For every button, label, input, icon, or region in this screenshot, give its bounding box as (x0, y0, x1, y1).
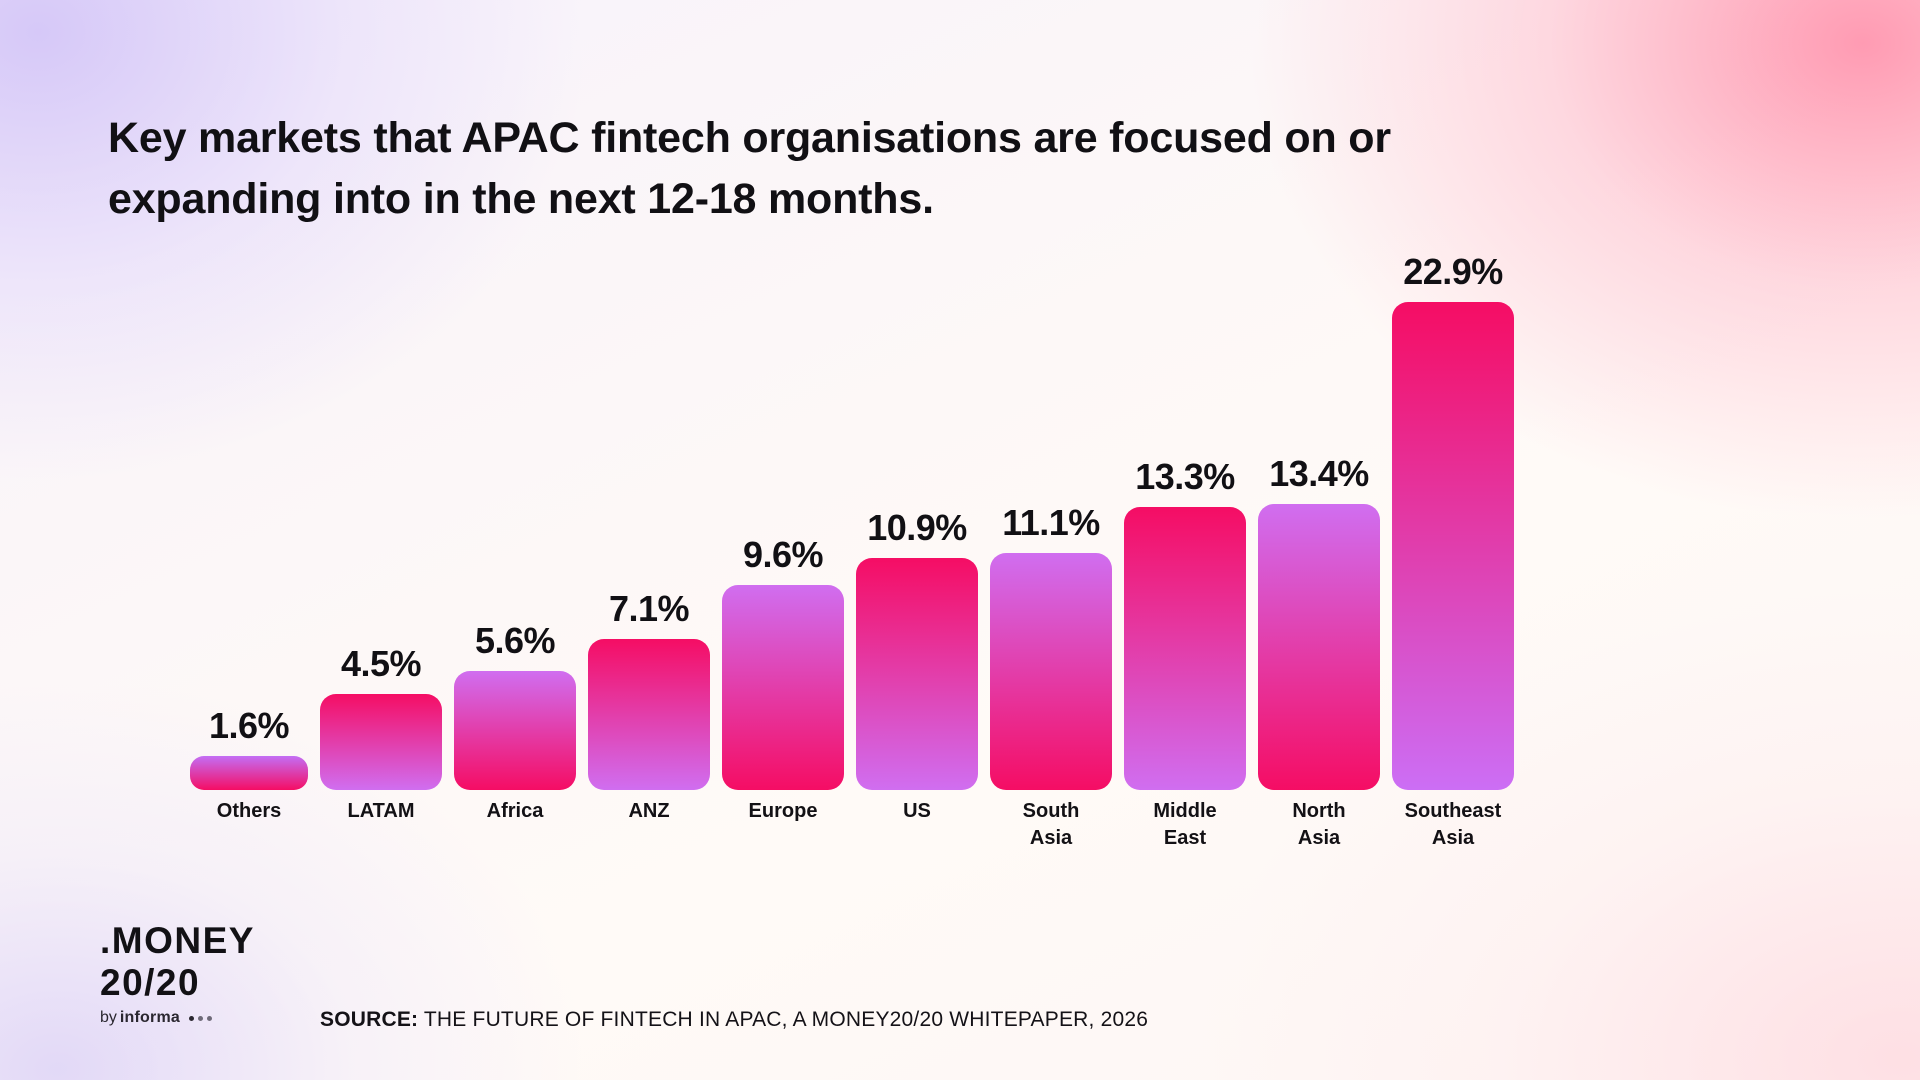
bar-series: 1.6%4.5%5.6%7.1%9.6%10.9%11.1%13.3%13.4%… (190, 250, 1740, 790)
title-line-2: expanding into in the next 12-18 months. (108, 169, 1608, 230)
x-label-line-1: Others (190, 798, 308, 825)
x-axis-label-us: US (856, 798, 978, 825)
x-label-line-2: Asia (990, 825, 1112, 852)
x-axis-label-south-asia: SouthAsia (990, 798, 1112, 852)
x-label-line-2: East (1124, 825, 1246, 852)
logo-line-money: .MONEY (100, 920, 320, 962)
x-axis-label-middle-east: MiddleEast (1124, 798, 1246, 852)
infographic-canvas: Key markets that APAC fintech organisati… (0, 0, 1920, 1080)
x-label-line-1: Middle (1124, 798, 1246, 825)
logo-by-text: by (100, 1009, 117, 1027)
x-axis-label-others: Others (190, 798, 308, 825)
bar-column[interactable]: 10.9% (856, 250, 978, 790)
x-axis-labels: OthersLATAMAfricaANZEuropeUSSouthAsiaMid… (190, 798, 1740, 878)
bar-rect[interactable] (190, 756, 308, 790)
bar-value-label: 7.1% (609, 591, 689, 627)
bar-value-label: 22.9% (1403, 254, 1503, 290)
bar-value-label: 13.4% (1269, 456, 1369, 492)
bar-rect[interactable] (588, 639, 710, 790)
x-axis-label-north-asia: NorthAsia (1258, 798, 1380, 852)
bar-rect[interactable] (722, 585, 844, 790)
bar-value-label: 9.6% (743, 537, 823, 573)
bar-value-label: 4.5% (341, 646, 421, 682)
x-label-line-1: North (1258, 798, 1380, 825)
bar-column[interactable]: 13.3% (1124, 250, 1246, 790)
bar-column[interactable]: 11.1% (990, 250, 1112, 790)
bar-value-label: 5.6% (475, 623, 555, 659)
x-label-line-1: Africa (454, 798, 576, 825)
source-note: SOURCE: THE FUTURE OF FINTECH IN APAC, A… (320, 1008, 1148, 1032)
bar-column[interactable]: 22.9% (1392, 250, 1514, 790)
x-label-line-1: US (856, 798, 978, 825)
bar-value-label: 1.6% (209, 708, 289, 744)
bar-value-label: 11.1% (1002, 505, 1100, 541)
logo-line-2020: 20/20 (100, 962, 320, 1004)
x-axis-label-europe: Europe (722, 798, 844, 825)
bar-value-label: 13.3% (1135, 459, 1235, 495)
bar-value-label: 10.9% (867, 510, 967, 546)
bar-rect[interactable] (454, 671, 576, 790)
x-axis-label-africa: Africa (454, 798, 576, 825)
bar-column[interactable]: 4.5% (320, 250, 442, 790)
bar-rect[interactable] (990, 553, 1112, 790)
source-text: THE FUTURE OF FINTECH IN APAC, A MONEY20… (424, 1008, 1148, 1031)
bar-rect[interactable] (1258, 504, 1380, 790)
page-title: Key markets that APAC fintech organisati… (108, 108, 1608, 230)
bar-chart: 1.6%4.5%5.6%7.1%9.6%10.9%11.1%13.3%13.4%… (190, 250, 1740, 790)
x-label-line-2: Asia (1392, 825, 1514, 852)
bar-rect[interactable] (320, 694, 442, 790)
x-label-line-1: ANZ (588, 798, 710, 825)
x-label-line-1: Europe (722, 798, 844, 825)
title-line-1: Key markets that APAC fintech organisati… (108, 108, 1608, 169)
x-label-line-1: LATAM (320, 798, 442, 825)
bar-column[interactable]: 5.6% (454, 250, 576, 790)
x-axis-label-anz: ANZ (588, 798, 710, 825)
bar-column[interactable]: 1.6% (190, 250, 308, 790)
informa-dots-icon (189, 1016, 212, 1021)
bar-column[interactable]: 13.4% (1258, 250, 1380, 790)
bar-column[interactable]: 7.1% (588, 250, 710, 790)
x-axis-label-latam: LATAM (320, 798, 442, 825)
source-label: SOURCE: (320, 1008, 418, 1031)
bar-rect[interactable] (1392, 302, 1514, 790)
bar-rect[interactable] (1124, 507, 1246, 790)
x-label-line-1: Southeast (1392, 798, 1514, 825)
logo-informa-text: informa (120, 1009, 180, 1027)
x-label-line-2: Asia (1258, 825, 1380, 852)
bar-column[interactable]: 9.6% (722, 250, 844, 790)
logo-byline: by informa (100, 1009, 320, 1027)
x-axis-label-southeast-asia: SoutheastAsia (1392, 798, 1514, 852)
bar-rect[interactable] (856, 558, 978, 790)
money2020-logo: .MONEY 20/20 by informa (100, 920, 320, 1027)
x-label-line-1: South (990, 798, 1112, 825)
